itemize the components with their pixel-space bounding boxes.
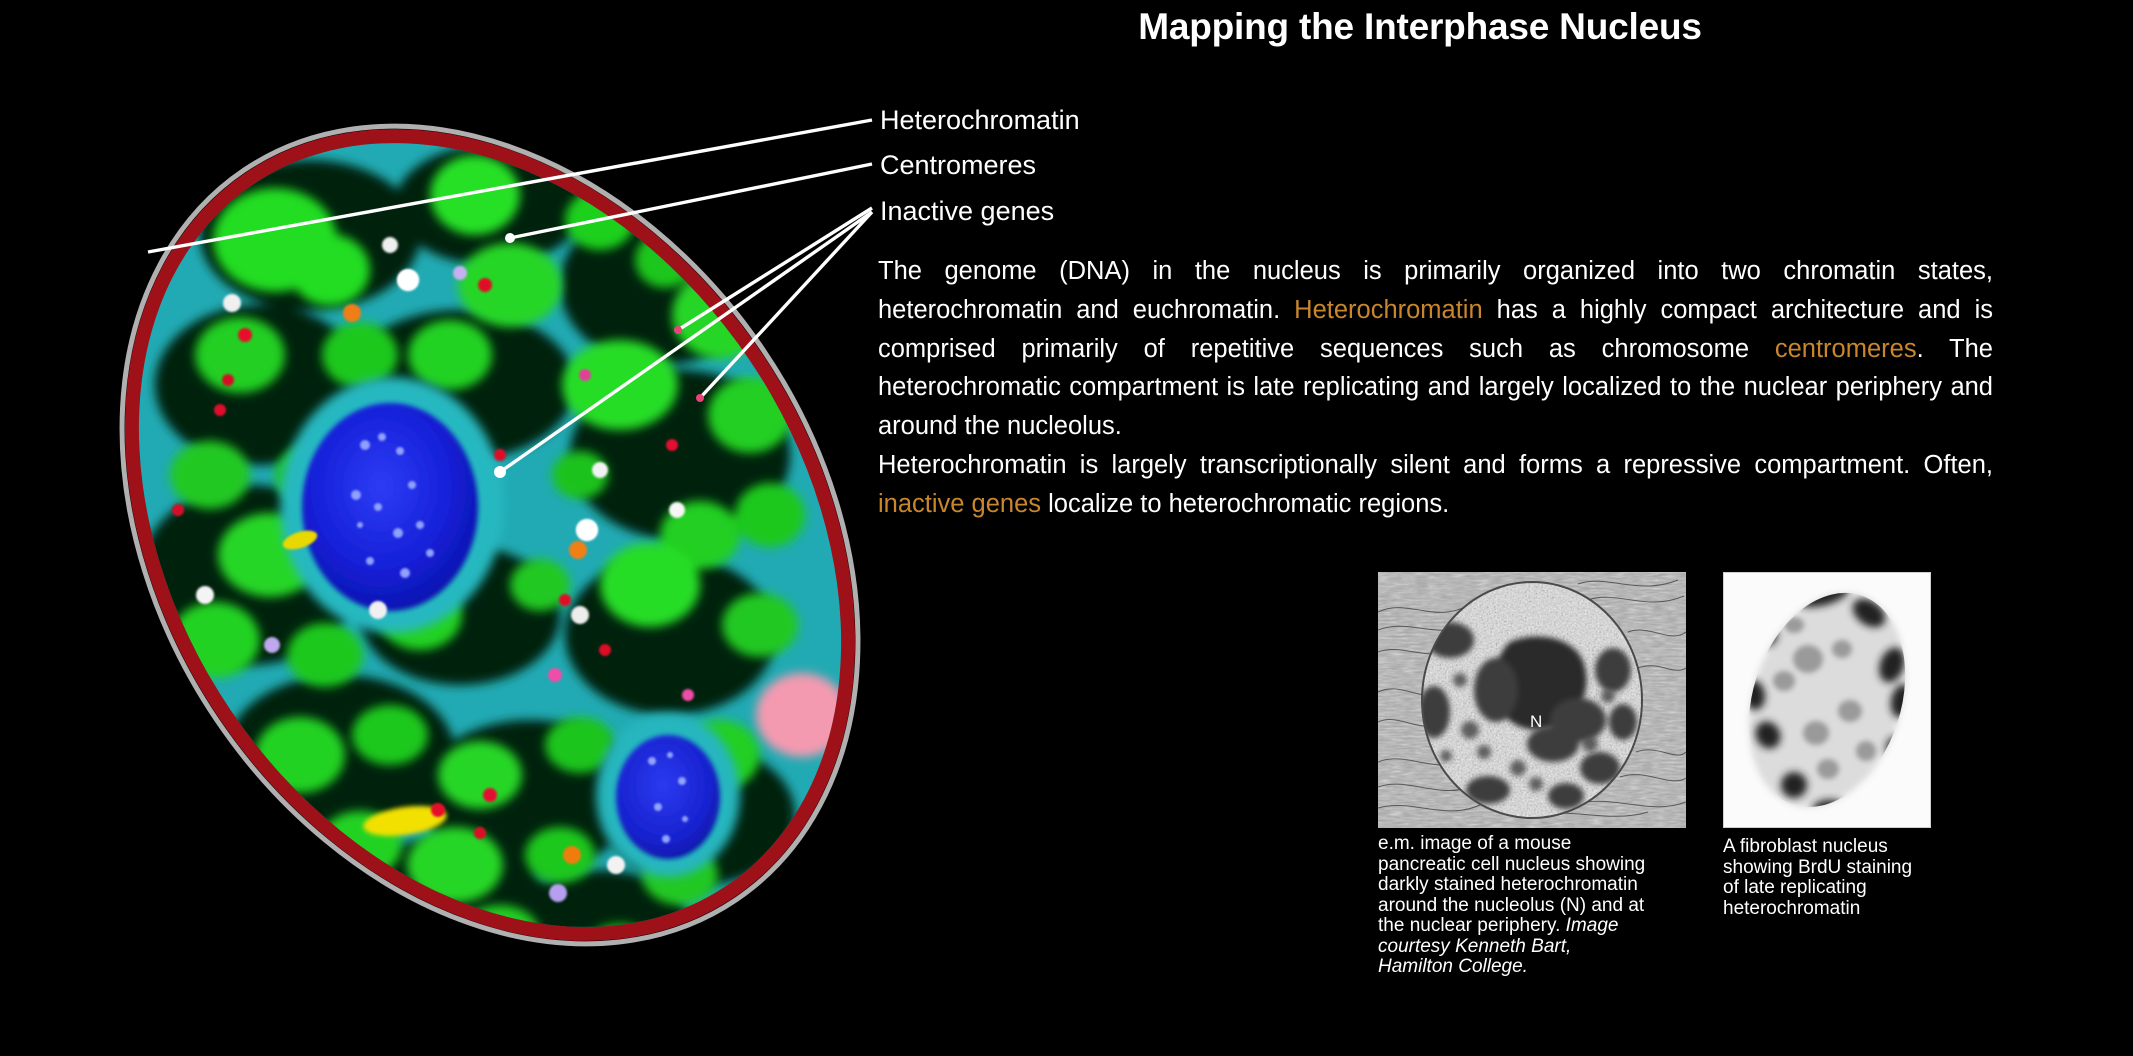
callout-label-centromeres: Centromeres: [880, 150, 1036, 181]
body-p2-part-a: Heterochromatin is largely transcription…: [878, 451, 1993, 479]
body-text-block: The genome (DNA) in the nucleus is prima…: [878, 252, 1993, 524]
brdu-micrograph-image: [1723, 572, 1931, 828]
nucleolus-primary: [280, 377, 504, 633]
highlight-inactive-genes: inactive genes: [878, 490, 1041, 518]
nucleolus-secondary: [596, 713, 740, 877]
brdu-micrograph-svg: [1724, 573, 1930, 827]
figure-em-caption: e.m. image of a mouse pancreatic cell nu…: [1378, 834, 1650, 978]
nucleus-svg: [60, 55, 920, 1005]
interphase-nucleus-micrograph: [60, 55, 920, 1005]
highlight-centromeres: centromeres: [1775, 335, 1917, 363]
callout-label-heterochromatin: Heterochromatin: [880, 105, 1080, 136]
body-paragraph-2: Heterochromatin is largely transcription…: [878, 446, 1993, 524]
body-p2-part-b: localize to heterochromatic regions.: [1041, 490, 1449, 518]
callout-label-inactive-genes: Inactive genes: [880, 196, 1054, 227]
nucleoplasm: [60, 55, 920, 1005]
highlight-heterochromatin: Heterochromatin: [1294, 296, 1483, 324]
page-title: Mapping the Interphase Nucleus: [1060, 6, 1780, 48]
em-nucleolus-marker: N: [1530, 712, 1542, 732]
figure-brdu-caption: A fibroblast nucleus showing BrdU staini…: [1723, 837, 1923, 919]
em-micrograph-image: N: [1378, 572, 1686, 828]
body-paragraph-1: The genome (DNA) in the nucleus is prima…: [878, 252, 1993, 446]
figure-brdu-fibroblast-nucleus: A fibroblast nucleus showing BrdU staini…: [1723, 572, 1931, 919]
figure-em-mouse-pancreatic-nucleus: N e.m. image of a mouse pancreatic cell …: [1378, 572, 1686, 978]
em-micrograph-svg: [1378, 572, 1686, 828]
